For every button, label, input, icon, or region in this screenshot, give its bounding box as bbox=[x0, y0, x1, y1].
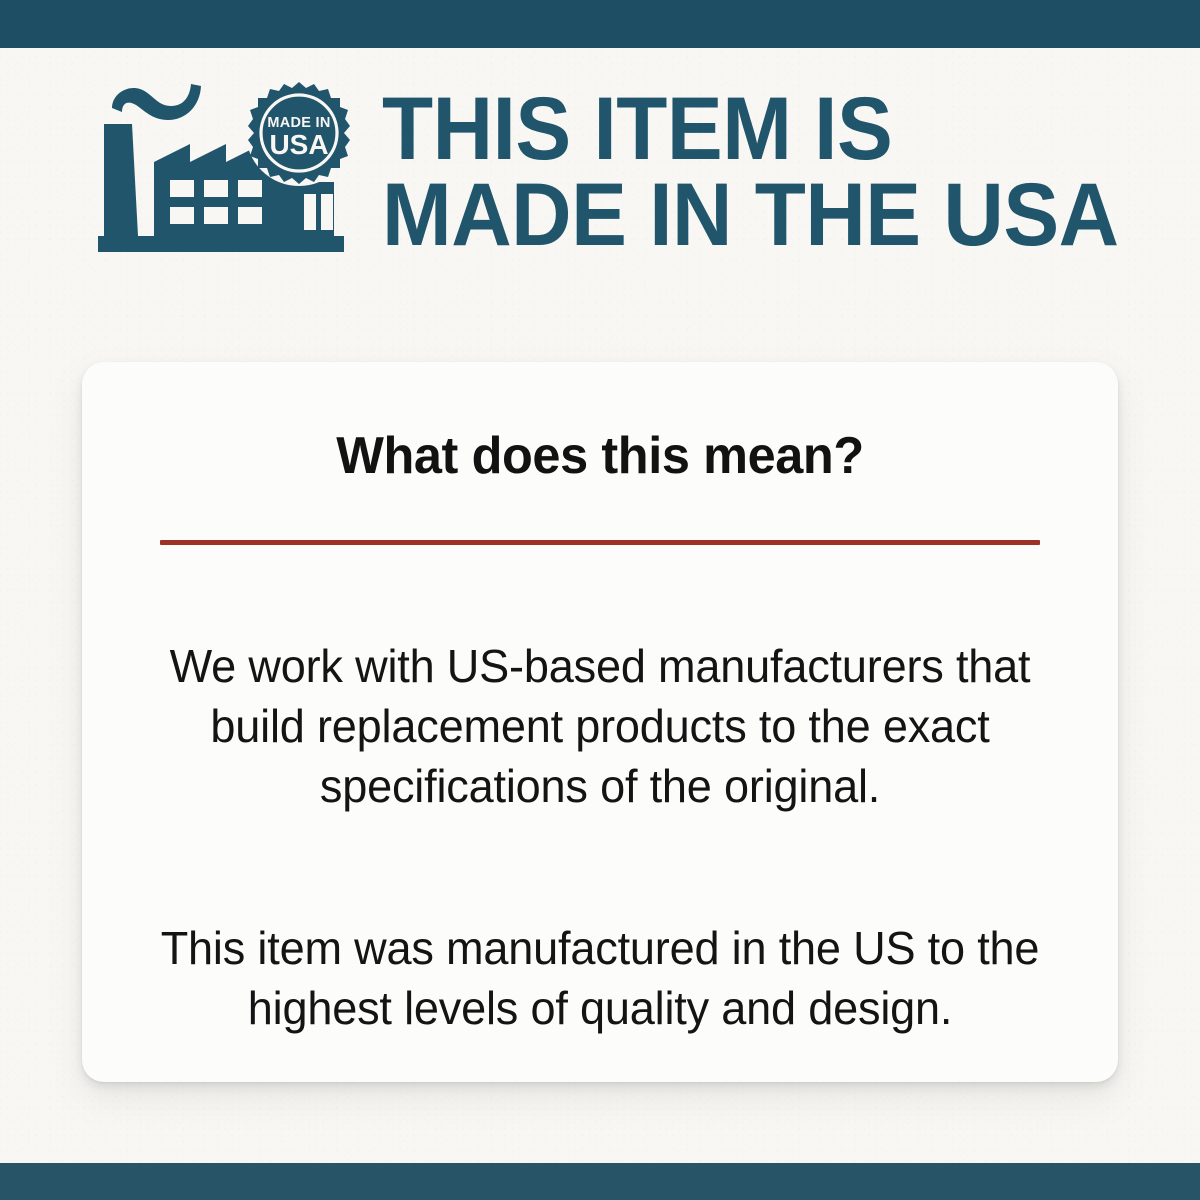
card-heading: What does this mean? bbox=[98, 428, 1103, 484]
factory-chimney bbox=[104, 124, 138, 236]
card-divider bbox=[160, 540, 1040, 545]
page-title: THIS ITEM IS MADE IN THE USA bbox=[382, 85, 1119, 257]
made-in-usa-logo: MADE IN USA bbox=[98, 76, 350, 266]
title-line-2: MADE IN THE USA bbox=[382, 171, 1119, 257]
card-paragraph-2: This item was manufactured in the US to … bbox=[149, 918, 1051, 1038]
top-accent-bar bbox=[0, 0, 1200, 48]
smoke-plume-icon bbox=[112, 84, 201, 120]
page-header: MADE IN USA THIS ITEM IS MADE IN THE USA bbox=[0, 48, 1200, 293]
card-paragraph-1: We work with US-based manufacturers that… bbox=[149, 636, 1051, 816]
factory-base bbox=[98, 236, 344, 252]
made-in-usa-badge-icon: MADE IN USA bbox=[246, 80, 350, 186]
bottom-accent-bar bbox=[0, 1163, 1200, 1200]
badge-line-2: USA bbox=[269, 129, 328, 160]
info-card: What does this mean? We work with US-bas… bbox=[82, 362, 1118, 1082]
title-line-1: THIS ITEM IS bbox=[382, 85, 1119, 171]
